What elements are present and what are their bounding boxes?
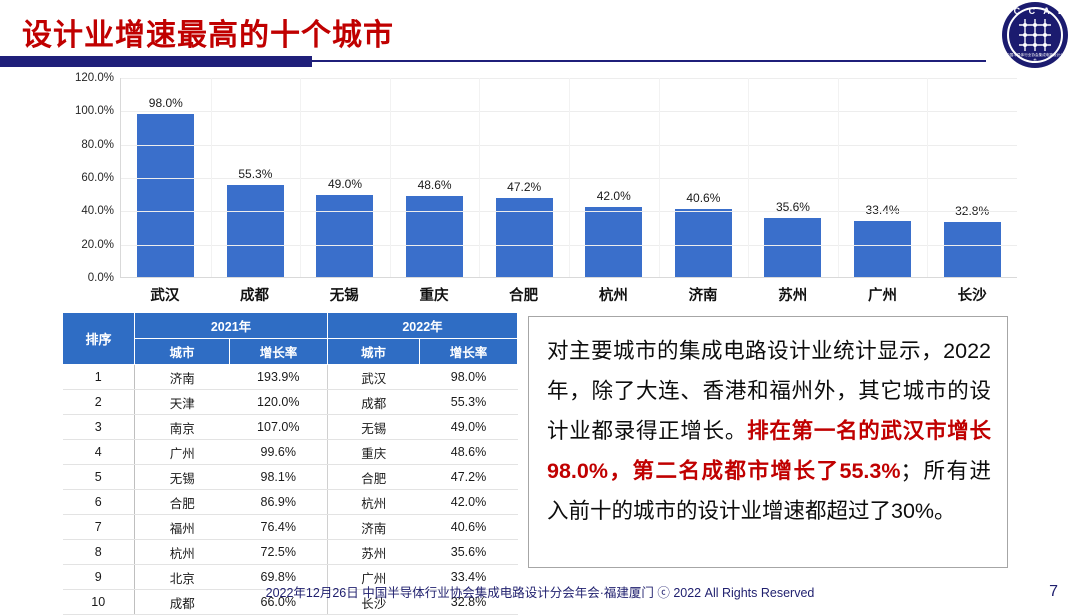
- table-subheader-city-2022: 城市: [328, 339, 420, 365]
- growth-bar-chart: 120.0%100.0%80.0%60.0%40.0%20.0%0.0% 98.…: [62, 78, 1017, 306]
- chart-vertical-gridline: [390, 78, 391, 277]
- logo-subtext: 中国半导体行业协会集成电路设计分会: [1005, 53, 1064, 64]
- chart-x-tick-label: 杭州: [569, 280, 659, 306]
- chart-vertical-gridline: [300, 78, 301, 277]
- table-header-2021: 2021年: [135, 313, 328, 339]
- growth-table-wrapper: 排序 2021年 2022年 城市 增长率 城市 增长率 1济南193.9%武汉…: [62, 312, 517, 615]
- chart-x-tick-label: 武汉: [120, 280, 210, 306]
- chart-bar-value-label: 98.0%: [149, 96, 183, 110]
- table-cell-rate-2021: 98.1%: [230, 465, 328, 490]
- table-cell-rate-2022: 40.6%: [420, 515, 518, 540]
- table-subheader-city-2021: 城市: [135, 339, 230, 365]
- chart-vertical-gridline: [838, 78, 839, 277]
- table-head: 排序 2021年 2022年 城市 增长率 城市 增长率: [63, 313, 518, 365]
- table-row: 8杭州72.5%苏州35.6%: [63, 540, 518, 565]
- chart-y-tick-label: 0.0%: [88, 272, 114, 284]
- chart-plot-area: 98.0%55.3%49.0%48.6%47.2%42.0%40.6%35.6%…: [120, 78, 1017, 278]
- chart-x-tick-label: 济南: [658, 280, 748, 306]
- table-cell-rank: 7: [63, 515, 135, 540]
- table-cell-rank: 5: [63, 465, 135, 490]
- chart-y-tick-label: 80.0%: [81, 139, 114, 151]
- page-title: 设计业增速最高的十个城市: [22, 10, 394, 54]
- table-row: 4广州99.6%重庆48.6%: [63, 440, 518, 465]
- table-cell-city-2021: 福州: [135, 515, 230, 540]
- table-cell-rate-2021: 99.6%: [230, 440, 328, 465]
- chart-x-axis: 武汉成都无锡重庆合肥杭州济南苏州广州长沙: [120, 280, 1017, 306]
- logo-grid-icon: [1017, 17, 1053, 53]
- table-cell-city-2022: 武汉: [328, 365, 420, 390]
- table-cell-rank: 3: [63, 415, 135, 440]
- iccad-logo: I C C A D 中国半导体行业协会集成电路设计分会: [1002, 2, 1068, 68]
- table-cell-rate-2021: 76.4%: [230, 515, 328, 540]
- chart-x-tick-label: 成都: [210, 280, 300, 306]
- analysis-callout: 对主要城市的集成电路设计业统计显示，2022年，除了大连、香港和福州外，其它城市…: [528, 316, 1008, 568]
- logo-letters: I C C A D: [1002, 6, 1068, 16]
- table-cell-city-2022: 重庆: [328, 440, 420, 465]
- table-row: 6合肥86.9%杭州42.0%: [63, 490, 518, 515]
- table-row: 7福州76.4%济南40.6%: [63, 515, 518, 540]
- table-row: 2天津120.0%成都55.3%: [63, 390, 518, 415]
- chart-bar-value-label: 42.0%: [597, 189, 631, 203]
- table-cell-city-2022: 无锡: [328, 415, 420, 440]
- chart-bar: 48.6%: [406, 196, 463, 277]
- chart-bar: 40.6%: [675, 209, 732, 277]
- table-cell-city-2022: 成都: [328, 390, 420, 415]
- chart-bar: 55.3%: [227, 185, 284, 277]
- chart-x-tick-label: 广州: [838, 280, 928, 306]
- chart-x-tick-label: 合肥: [479, 280, 569, 306]
- table-cell-rate-2021: 193.9%: [230, 365, 328, 390]
- table-cell-rate-2022: 47.2%: [420, 465, 518, 490]
- chart-x-tick-label: 无锡: [299, 280, 389, 306]
- chart-bar: 47.2%: [496, 198, 553, 277]
- chart-y-tick-label: 20.0%: [81, 239, 114, 251]
- table-body: 1济南193.9%武汉98.0%2天津120.0%成都55.3%3南京107.0…: [63, 365, 518, 615]
- table-cell-rate-2021: 107.0%: [230, 415, 328, 440]
- table-cell-rate-2022: 98.0%: [420, 365, 518, 390]
- chart-bar: 49.0%: [316, 195, 373, 277]
- chart-vertical-gridline: [569, 78, 570, 277]
- table-cell-city-2021: 广州: [135, 440, 230, 465]
- chart-bar: 42.0%: [585, 207, 642, 277]
- table-cell-rank: 4: [63, 440, 135, 465]
- table-cell-rate-2022: 35.6%: [420, 540, 518, 565]
- table-header-2022: 2022年: [328, 313, 518, 339]
- chart-y-tick-label: 60.0%: [81, 172, 114, 184]
- table-cell-rank: 6: [63, 490, 135, 515]
- table-row: 1济南193.9%武汉98.0%: [63, 365, 518, 390]
- chart-bar: 98.0%: [137, 114, 194, 277]
- title-rule-thin: [312, 60, 986, 62]
- chart-vertical-gridline: [927, 78, 928, 277]
- chart-x-tick-label: 苏州: [748, 280, 838, 306]
- table-cell-rate-2022: 49.0%: [420, 415, 518, 440]
- table-cell-city-2022: 苏州: [328, 540, 420, 565]
- title-rule-thick: [0, 56, 312, 67]
- table-cell-rank: 1: [63, 365, 135, 390]
- chart-bar-value-label: 47.2%: [507, 180, 541, 194]
- table-cell-rank: 2: [63, 390, 135, 415]
- table-subheader-rate-2022: 增长率: [420, 339, 518, 365]
- chart-vertical-gridline: [479, 78, 480, 277]
- analysis-paragraph: 对主要城市的集成电路设计业统计显示，2022年，除了大连、香港和福州外，其它城市…: [547, 331, 991, 531]
- chart-bar: 35.6%: [764, 218, 821, 277]
- logo-inner: I C C A D 中国半导体行业协会集成电路设计分会: [1002, 2, 1068, 68]
- chart-vertical-gridline: [211, 78, 212, 277]
- chart-y-tick-label: 40.0%: [81, 205, 114, 217]
- table-row: 5无锡98.1%合肥47.2%: [63, 465, 518, 490]
- chart-bar: 33.4%: [854, 221, 911, 277]
- chart-x-tick-label: 长沙: [927, 280, 1017, 306]
- table-cell-rate-2021: 72.5%: [230, 540, 328, 565]
- chart-y-axis: 120.0%100.0%80.0%60.0%40.0%20.0%0.0%: [62, 78, 120, 278]
- chart-bar-value-label: 49.0%: [328, 177, 362, 191]
- table-header-rank: 排序: [63, 313, 135, 365]
- table-cell-city-2022: 合肥: [328, 465, 420, 490]
- table-cell-city-2021: 杭州: [135, 540, 230, 565]
- table-cell-rate-2022: 55.3%: [420, 390, 518, 415]
- chart-y-tick-label: 100.0%: [75, 105, 114, 117]
- table-cell-city-2021: 济南: [135, 365, 230, 390]
- table-header-row-groups: 排序 2021年 2022年: [63, 313, 518, 339]
- growth-table: 排序 2021年 2022年 城市 增长率 城市 增长率 1济南193.9%武汉…: [62, 312, 518, 615]
- footer-text: 2022年12月26日 中国半导体行业协会集成电路设计分会年会·福建厦门 ⓒ 2…: [0, 582, 1080, 601]
- chart-y-tick-label: 120.0%: [75, 72, 114, 84]
- chart-bar-value-label: 48.6%: [418, 178, 452, 192]
- table-cell-rate-2021: 86.9%: [230, 490, 328, 515]
- table-cell-rank: 8: [63, 540, 135, 565]
- table-cell-city-2022: 济南: [328, 515, 420, 540]
- table-cell-rate-2021: 120.0%: [230, 390, 328, 415]
- chart-bar-value-label: 40.6%: [686, 191, 720, 205]
- slide-root: 设计业增速最高的十个城市: [0, 0, 1080, 607]
- chart-vertical-gridline: [748, 78, 749, 277]
- table-subheader-rate-2021: 增长率: [230, 339, 328, 365]
- page-number: 7: [1049, 583, 1058, 601]
- table-cell-city-2022: 杭州: [328, 490, 420, 515]
- chart-bar: 32.8%: [944, 222, 1001, 277]
- chart-x-tick-label: 重庆: [389, 280, 479, 306]
- table-cell-city-2021: 南京: [135, 415, 230, 440]
- table-row: 3南京107.0%无锡49.0%: [63, 415, 518, 440]
- table-cell-rate-2022: 48.6%: [420, 440, 518, 465]
- chart-vertical-gridline: [659, 78, 660, 277]
- table-cell-rate-2022: 42.0%: [420, 490, 518, 515]
- table-cell-city-2021: 合肥: [135, 490, 230, 515]
- table-cell-city-2021: 无锡: [135, 465, 230, 490]
- table-cell-city-2021: 天津: [135, 390, 230, 415]
